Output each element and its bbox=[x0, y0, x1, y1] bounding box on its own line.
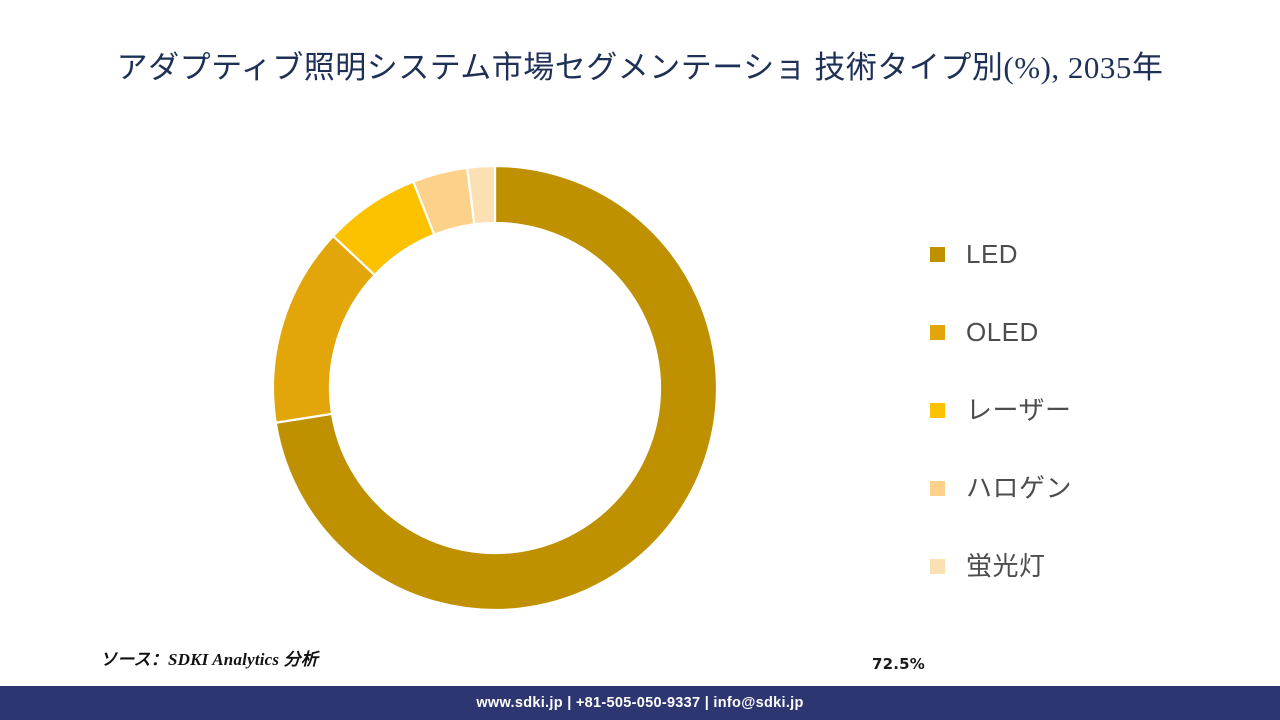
legend-swatch-fluorescent-icon bbox=[930, 559, 945, 574]
legend-item-halogen[interactable]: ハロゲン bbox=[930, 449, 1230, 527]
legend-swatch-oled-icon bbox=[930, 325, 945, 340]
source-note: ソース：SDKI Analytics 分析 bbox=[100, 645, 318, 670]
legend-item-fluorescent[interactable]: 蛍光灯 bbox=[930, 527, 1230, 605]
legend-item-led[interactable]: LED bbox=[930, 215, 1230, 293]
donut-slices bbox=[273, 166, 717, 610]
data-label-led: 72.5% bbox=[872, 655, 925, 673]
footer-contact-text: www.sdki.jp | +81-505-050-9337 | info@sd… bbox=[476, 695, 803, 711]
page-title: アダプティブ照明システム市場セグメンテーショ 技術タイプ別(%), 2035年 bbox=[40, 46, 1240, 90]
legend-label-halogen: ハロゲン bbox=[966, 475, 1072, 501]
donut-slice-oled[interactable] bbox=[273, 236, 375, 423]
legend-item-oled[interactable]: OLED bbox=[930, 293, 1230, 371]
legend-label-fluorescent: 蛍光灯 bbox=[966, 553, 1046, 579]
legend-swatch-led-icon bbox=[930, 247, 945, 262]
legend-swatch-laser-icon bbox=[930, 403, 945, 418]
legend-label-led: LED bbox=[966, 241, 1018, 267]
donut-chart: 72.5% bbox=[260, 155, 730, 625]
legend-item-laser[interactable]: レーザー bbox=[930, 371, 1230, 449]
legend-swatch-halogen-icon bbox=[930, 481, 945, 496]
donut-chart-svg bbox=[260, 155, 730, 625]
legend: LED OLED レーザー ハロゲン 蛍光灯 bbox=[930, 215, 1230, 605]
legend-label-oled: OLED bbox=[966, 319, 1039, 345]
chart-page: アダプティブ照明システム市場セグメンテーショ 技術タイプ別(%), 2035年 … bbox=[0, 0, 1280, 720]
legend-label-laser: レーザー bbox=[966, 397, 1071, 423]
footer-bar: www.sdki.jp | +81-505-050-9337 | info@sd… bbox=[0, 686, 1280, 720]
